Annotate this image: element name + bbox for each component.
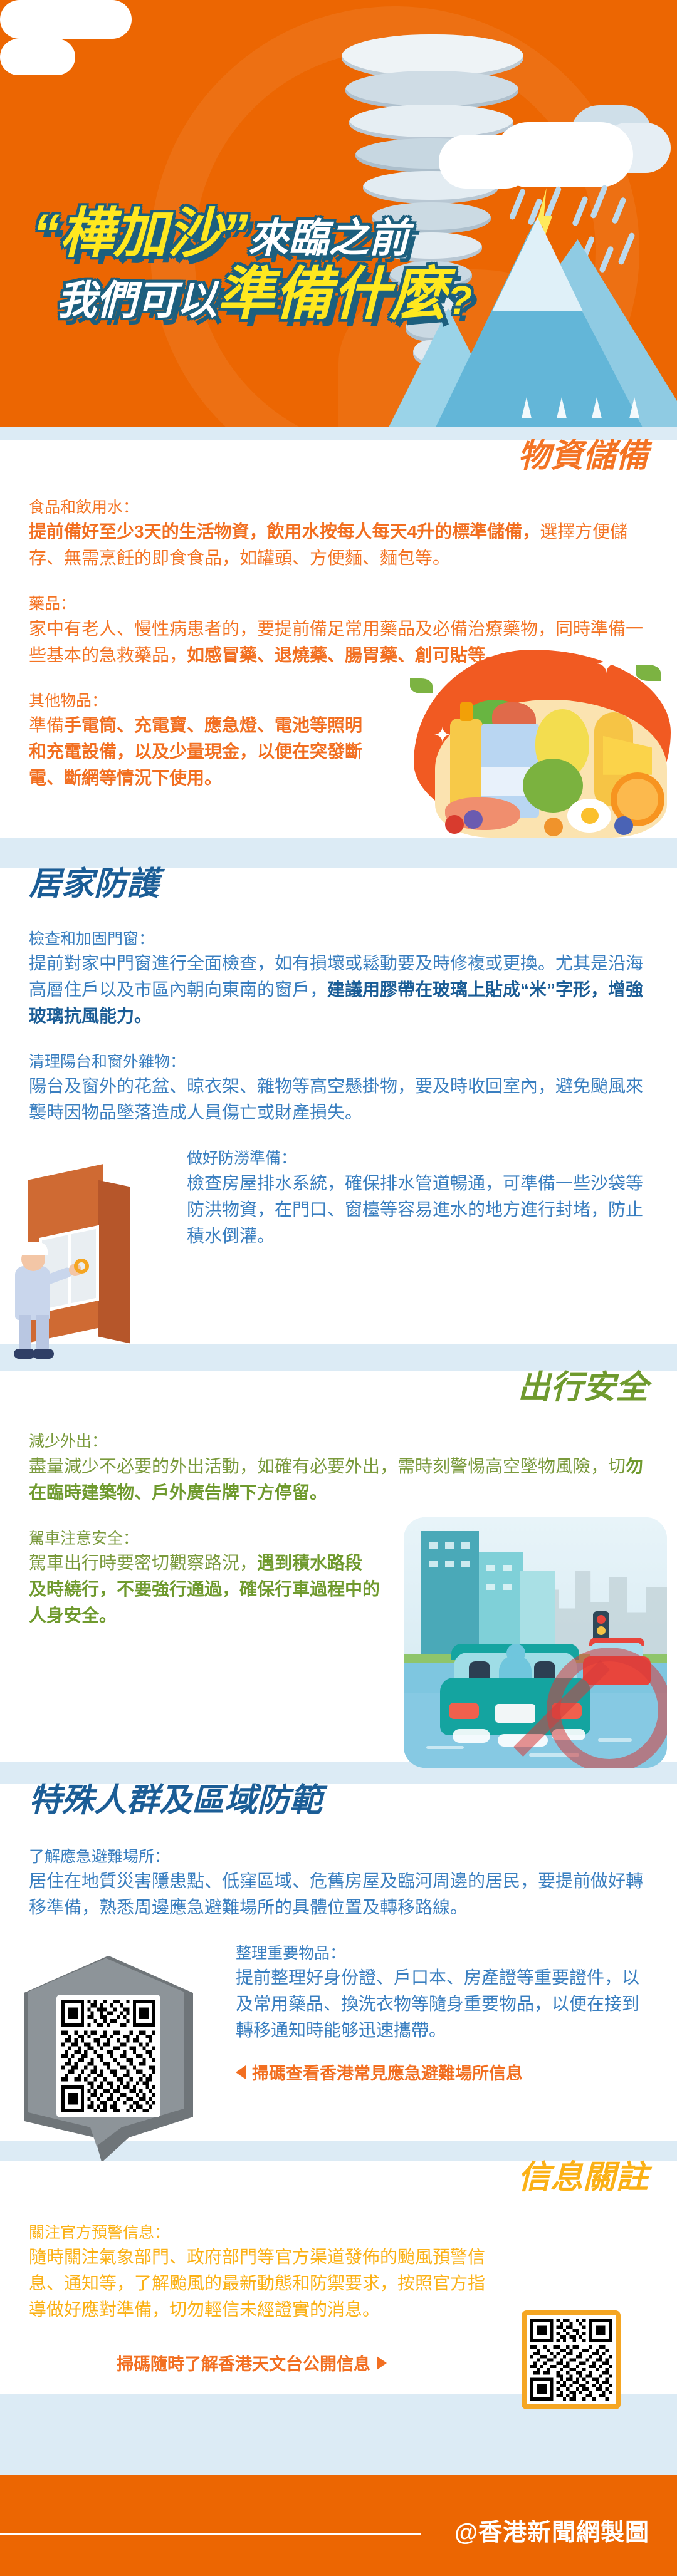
infographic-page: “樺加沙”來臨之前 我們可以準備什麼? 物資儲備 食品和飲用水： 提前備好至少3… xyxy=(0,0,677,2576)
travel-driving-label: 駕車注意安全： xyxy=(29,1527,380,1550)
supplies-food-label: 食品和飲用水： xyxy=(29,496,648,519)
info-official-label: 關注官方預警信息： xyxy=(29,2221,648,2244)
supplies-medicine-label: 藥品： xyxy=(29,593,648,615)
section-heading-information: 信息關註 xyxy=(29,2161,648,2208)
supplies-block-food: 食品和飲用水： 提前備好至少3天的生活物資，飲用水按每人每天4升的標準儲備，選擇… xyxy=(29,496,648,571)
title-line2-prefix: 我們可以 xyxy=(56,278,217,323)
home-flood-body: 檢查房屋排水系統，確保排水管道暢通，可準備一些沙袋等防洪物資，在門口、窗檯等容易… xyxy=(187,1170,648,1249)
footer-rule xyxy=(0,2533,421,2535)
hero-title: “樺加沙”來臨之前 我們可以準備什麼? xyxy=(33,207,597,323)
info-block-official: 關注官方預警信息： 隨時關注氣象部門、政府部門等官方渠道發佈的颱風預警信息、通知… xyxy=(29,2221,648,2375)
supplies-food-body: 提前備好至少3天的生活物資，飲用水按每人每天4升的標準儲備，選擇方便儲存、無需烹… xyxy=(29,519,648,571)
hero-header: “樺加沙”來臨之前 我們可以準備什麼? xyxy=(0,0,677,427)
travel-block-goout: 減少外出： 盡量減少不必要的外出活動，如確有必要外出，需時刻警惕高空墜物風險，切… xyxy=(29,1430,648,1505)
special-shelter-label: 了解應急避難場所： xyxy=(29,1846,648,1868)
footer-credit: @香港新聞網製圖 xyxy=(454,2513,649,2547)
special-documents-body: 提前整理好身份證、戶口本、房產證等重要證件，以及常用藥品、換洗衣物等隨身重要物品… xyxy=(236,1965,648,2044)
section-heading-travel: 出行安全 xyxy=(29,1371,648,1416)
hko-qr-caption: 掃碼隨時了解香港天文台公開信息 xyxy=(117,2350,370,2375)
special-block-shelter: 了解應急避難場所： 居住在地質災害隱患點、低窪區域、危舊房屋及臨河周邊的居民，要… xyxy=(29,1846,648,1921)
home-balcony-label: 清理陽台和窗外雜物： xyxy=(29,1051,648,1073)
special-block-documents: 整理重要物品： 提前整理好身份證、戶口本、房產證等重要證件，以及常用藥品、換洗衣… xyxy=(236,1942,648,2099)
supplies-other-label: 其他物品： xyxy=(29,690,380,712)
info-official-body: 隨時關注氣象部門、政府部門等官方渠道發佈的颱風預警信息、通知等，了解颱風的最新動… xyxy=(29,2244,486,2323)
triangle-left-icon xyxy=(236,2065,246,2079)
section-travel-safety: 出行安全 減少外出： 盡量減少不必要的外出活動，如確有必要外出，需時刻警惕高空墜… xyxy=(0,1371,677,1761)
food-supplies-illustration: ✦ ✦ xyxy=(401,631,671,838)
section-home-protection: 居家防護 檢查和加固門窗： 提前對家中門窗進行全面檢查，如有損壞或鬆動要及時修複… xyxy=(0,868,677,1344)
section-special-groups: 特殊人群及區域防範 了解應急避難場所： 居住在地質災害隱患點、低窪區域、危舊房屋… xyxy=(0,1784,677,2141)
window-worker-illustration xyxy=(4,1172,148,1360)
shelter-qr-code[interactable] xyxy=(56,1995,160,2117)
shelter-qr-bubble[interactable] xyxy=(24,1956,193,2163)
home-block-balcony: 清理陽台和窗外雜物： 陽台及窗外的花盆、晾衣架、雜物等高空懸掛物，要及時收回室內… xyxy=(29,1051,648,1126)
title-line1-rest: 來臨之前 xyxy=(248,216,409,261)
section-heading-home: 居家防護 xyxy=(29,868,648,914)
travel-goout-label: 減少外出： xyxy=(29,1430,648,1453)
home-block-flood: 做好防澇準備： 檢查房屋排水系統，確保排水管道暢通，可準備一些沙袋等防洪物資，在… xyxy=(187,1147,648,1297)
home-balcony-body: 陽台及窗外的花盆、晾衣架、雜物等高空懸掛物，要及時收回室內，避免颱風來襲時因物品… xyxy=(29,1073,648,1126)
home-windows-body: 提前對家中門窗進行全面檢查，如有損壞或鬆動要及時修複或更換。尤其是沿海高層住戶以… xyxy=(29,950,648,1029)
flooded-road-illustration xyxy=(404,1517,667,1768)
home-block-windows: 檢查和加固門窗： 提前對家中門窗進行全面檢查，如有損壞或鬆動要及時修複或更換。尤… xyxy=(29,928,648,1029)
shelter-qr-caption-row: 掃碼查看香港常見應急避難場所信息 xyxy=(236,2060,648,2084)
triangle-right-icon xyxy=(377,2356,387,2370)
title-line2-highlight: 準備什麼 xyxy=(217,262,448,326)
section-information: 信息關註 關注官方預警信息： 隨時關注氣象部門、政府部門等官方渠道發佈的颱風預警… xyxy=(0,2161,677,2394)
travel-block-driving: 駕車注意安全： 駕車出行時要密切觀察路況，遇到積水路段及時繞行，不要強行通過，確… xyxy=(29,1527,380,1715)
section-heading-supplies: 物資儲備 xyxy=(29,440,648,482)
travel-driving-body: 駕車出行時要密切觀察路況，遇到積水路段及時繞行，不要強行通過，確保行車過程中的人… xyxy=(29,1550,380,1629)
home-windows-label: 檢查和加固門窗： xyxy=(29,928,648,950)
supplies-other-body: 準備手電筒、充電寶、應急燈、電池等照明和充電設備，以及少量現金，以便在突發斷電、… xyxy=(29,712,380,791)
section-heading-special: 特殊人群及區域防範 xyxy=(29,1784,648,1832)
title-question-mark: ? xyxy=(448,278,472,323)
shelter-qr-caption: 掃碼查看香港常見應急避難場所信息 xyxy=(252,2060,523,2084)
title-storm-name: “樺加沙” xyxy=(33,204,248,264)
travel-goout-body: 盡量減少不必要的外出活動，如確有必要外出，需時刻警惕高空墜物風險，切勿在臨時建築… xyxy=(29,1453,648,1506)
hko-qr-code[interactable] xyxy=(522,2310,621,2409)
section-supplies: 物資儲備 食品和飲用水： 提前備好至少3天的生活物資，飲用水按每人每天4升的標準… xyxy=(0,440,677,838)
special-documents-label: 整理重要物品： xyxy=(236,1942,648,1965)
supplies-block-other: 其他物品： 準備手電筒、充電寶、應急燈、電池等照明和充電設備，以及少量現金，以便… xyxy=(29,690,380,791)
special-shelter-body: 居住在地質災害隱患點、低窪區域、危舊房屋及臨河周邊的居民，要提前做好轉移準備，熟… xyxy=(29,1868,648,1921)
home-flood-label: 做好防澇準備： xyxy=(187,1147,648,1170)
footer-bar: @香港新聞網製圖 xyxy=(0,2475,677,2576)
